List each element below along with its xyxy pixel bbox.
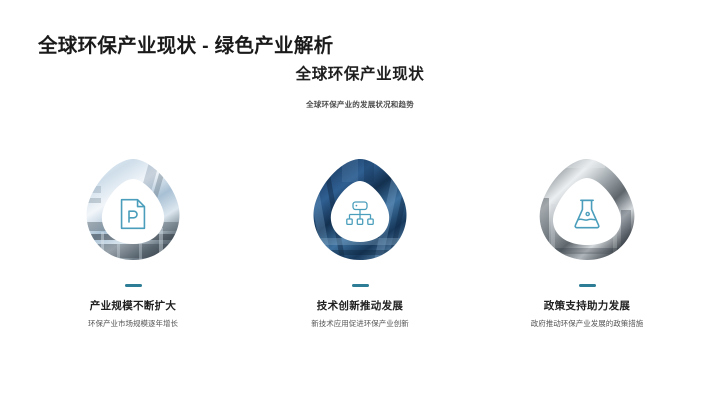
card-divider (125, 284, 142, 287)
feature-card-row: 产业规模不断扩大 环保产业市场规模逐年增长 (40, 152, 680, 329)
flask-icon (572, 198, 602, 230)
card-icon-wrap (298, 152, 422, 276)
card-divider (352, 284, 369, 287)
feature-card[interactable]: 政策支持助力发展 政府推动环保产业发展的政策措施 (494, 152, 680, 329)
card-title: 政策支持助力发展 (544, 298, 630, 313)
slide-canvas: 全球环保产业现状 - 绿色产业解析 全球环保产业现状 全球环保产业的发展状况和趋… (0, 0, 720, 404)
card-title: 技术创新推动发展 (317, 298, 403, 313)
card-title: 产业规模不断扩大 (90, 298, 176, 313)
deck-title: 全球环保产业现状 - 绿色产业解析 (38, 29, 333, 58)
card-description: 新技术应用促进环保产业创新 (294, 318, 426, 330)
feature-card[interactable]: 产业规模不断扩大 环保产业市场规模逐年增长 (40, 152, 226, 329)
hierarchy-icon (345, 198, 375, 230)
card-description: 政府推动环保产业发展的政策措施 (521, 318, 653, 330)
card-image-frame (525, 152, 649, 276)
card-image-frame (71, 152, 195, 276)
card-icon-wrap (71, 152, 195, 276)
feature-card[interactable]: 技术创新推动发展 新技术应用促进环保产业创新 (267, 152, 453, 329)
document-p-icon (118, 198, 148, 230)
card-image-frame (298, 152, 422, 276)
section-subtitle: 全球环保产业的发展状况和趋势 (0, 99, 720, 110)
card-icon-wrap (525, 152, 649, 276)
section-title: 全球环保产业现状 (0, 62, 720, 84)
card-description: 环保产业市场规模逐年增长 (67, 318, 199, 330)
card-divider (579, 284, 596, 287)
